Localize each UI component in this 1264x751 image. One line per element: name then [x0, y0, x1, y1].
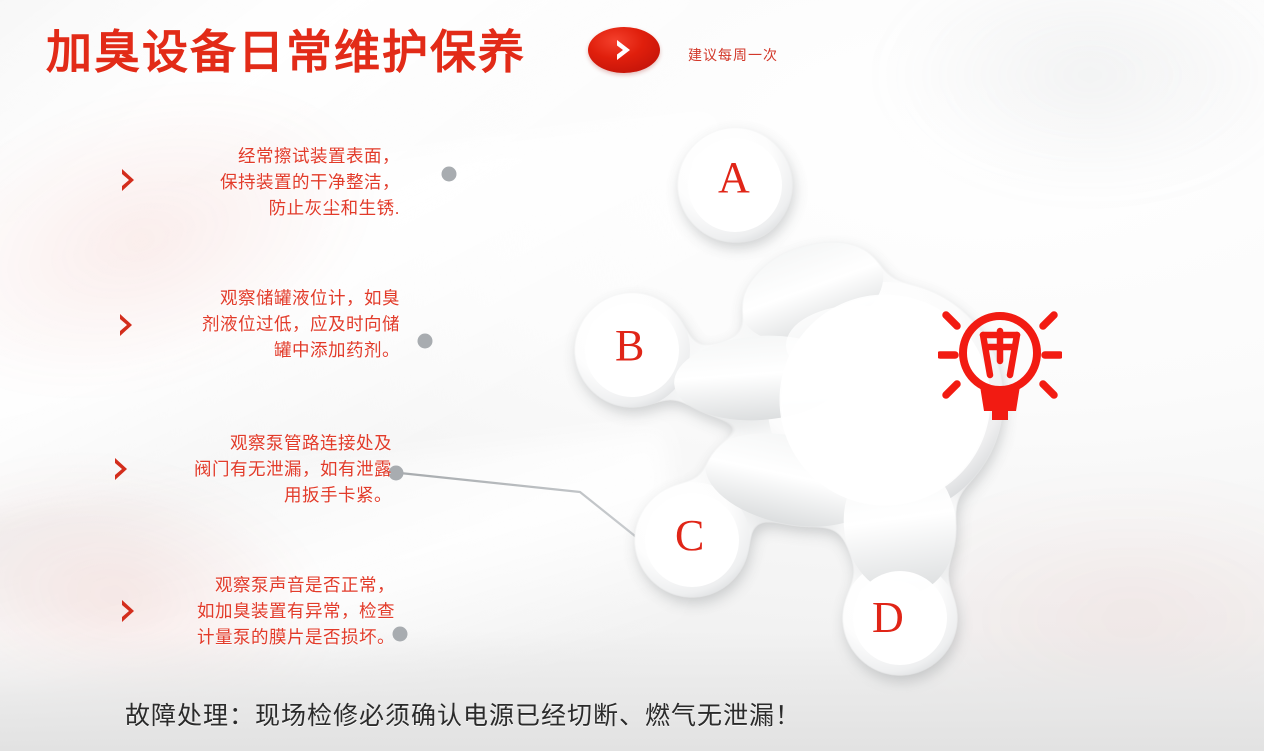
lightbulb-glyph [938, 287, 1062, 437]
item-text-c: 观察泵管路连接处及 阀门有无泄漏，如有泄露 用扳手卡紧。 [100, 430, 392, 508]
cluster-shape [560, 100, 1180, 700]
footer-note: 故障处理：现场检修必须确认电源已经切断、燃气无泄漏！ [125, 696, 801, 732]
item-text-b: 观察储罐液位计，如臭 剂液位过低，应及时向储 罐中添加药剂。 [120, 285, 400, 363]
lightbulb-icon [938, 287, 1062, 437]
item-text-a: 经常擦试装置表面， 保持装置的干净整洁， 防止灰尘和生锈. [120, 143, 400, 221]
infographic-canvas: 加臭设备日常维护保养 建议每周一次 [0, 0, 1264, 751]
node-cluster [560, 100, 1180, 700]
item-text-d: 观察泵声音是否正常， 如加臭装置有异常，检查 计量泵的膜片是否损坏。 [110, 572, 395, 650]
